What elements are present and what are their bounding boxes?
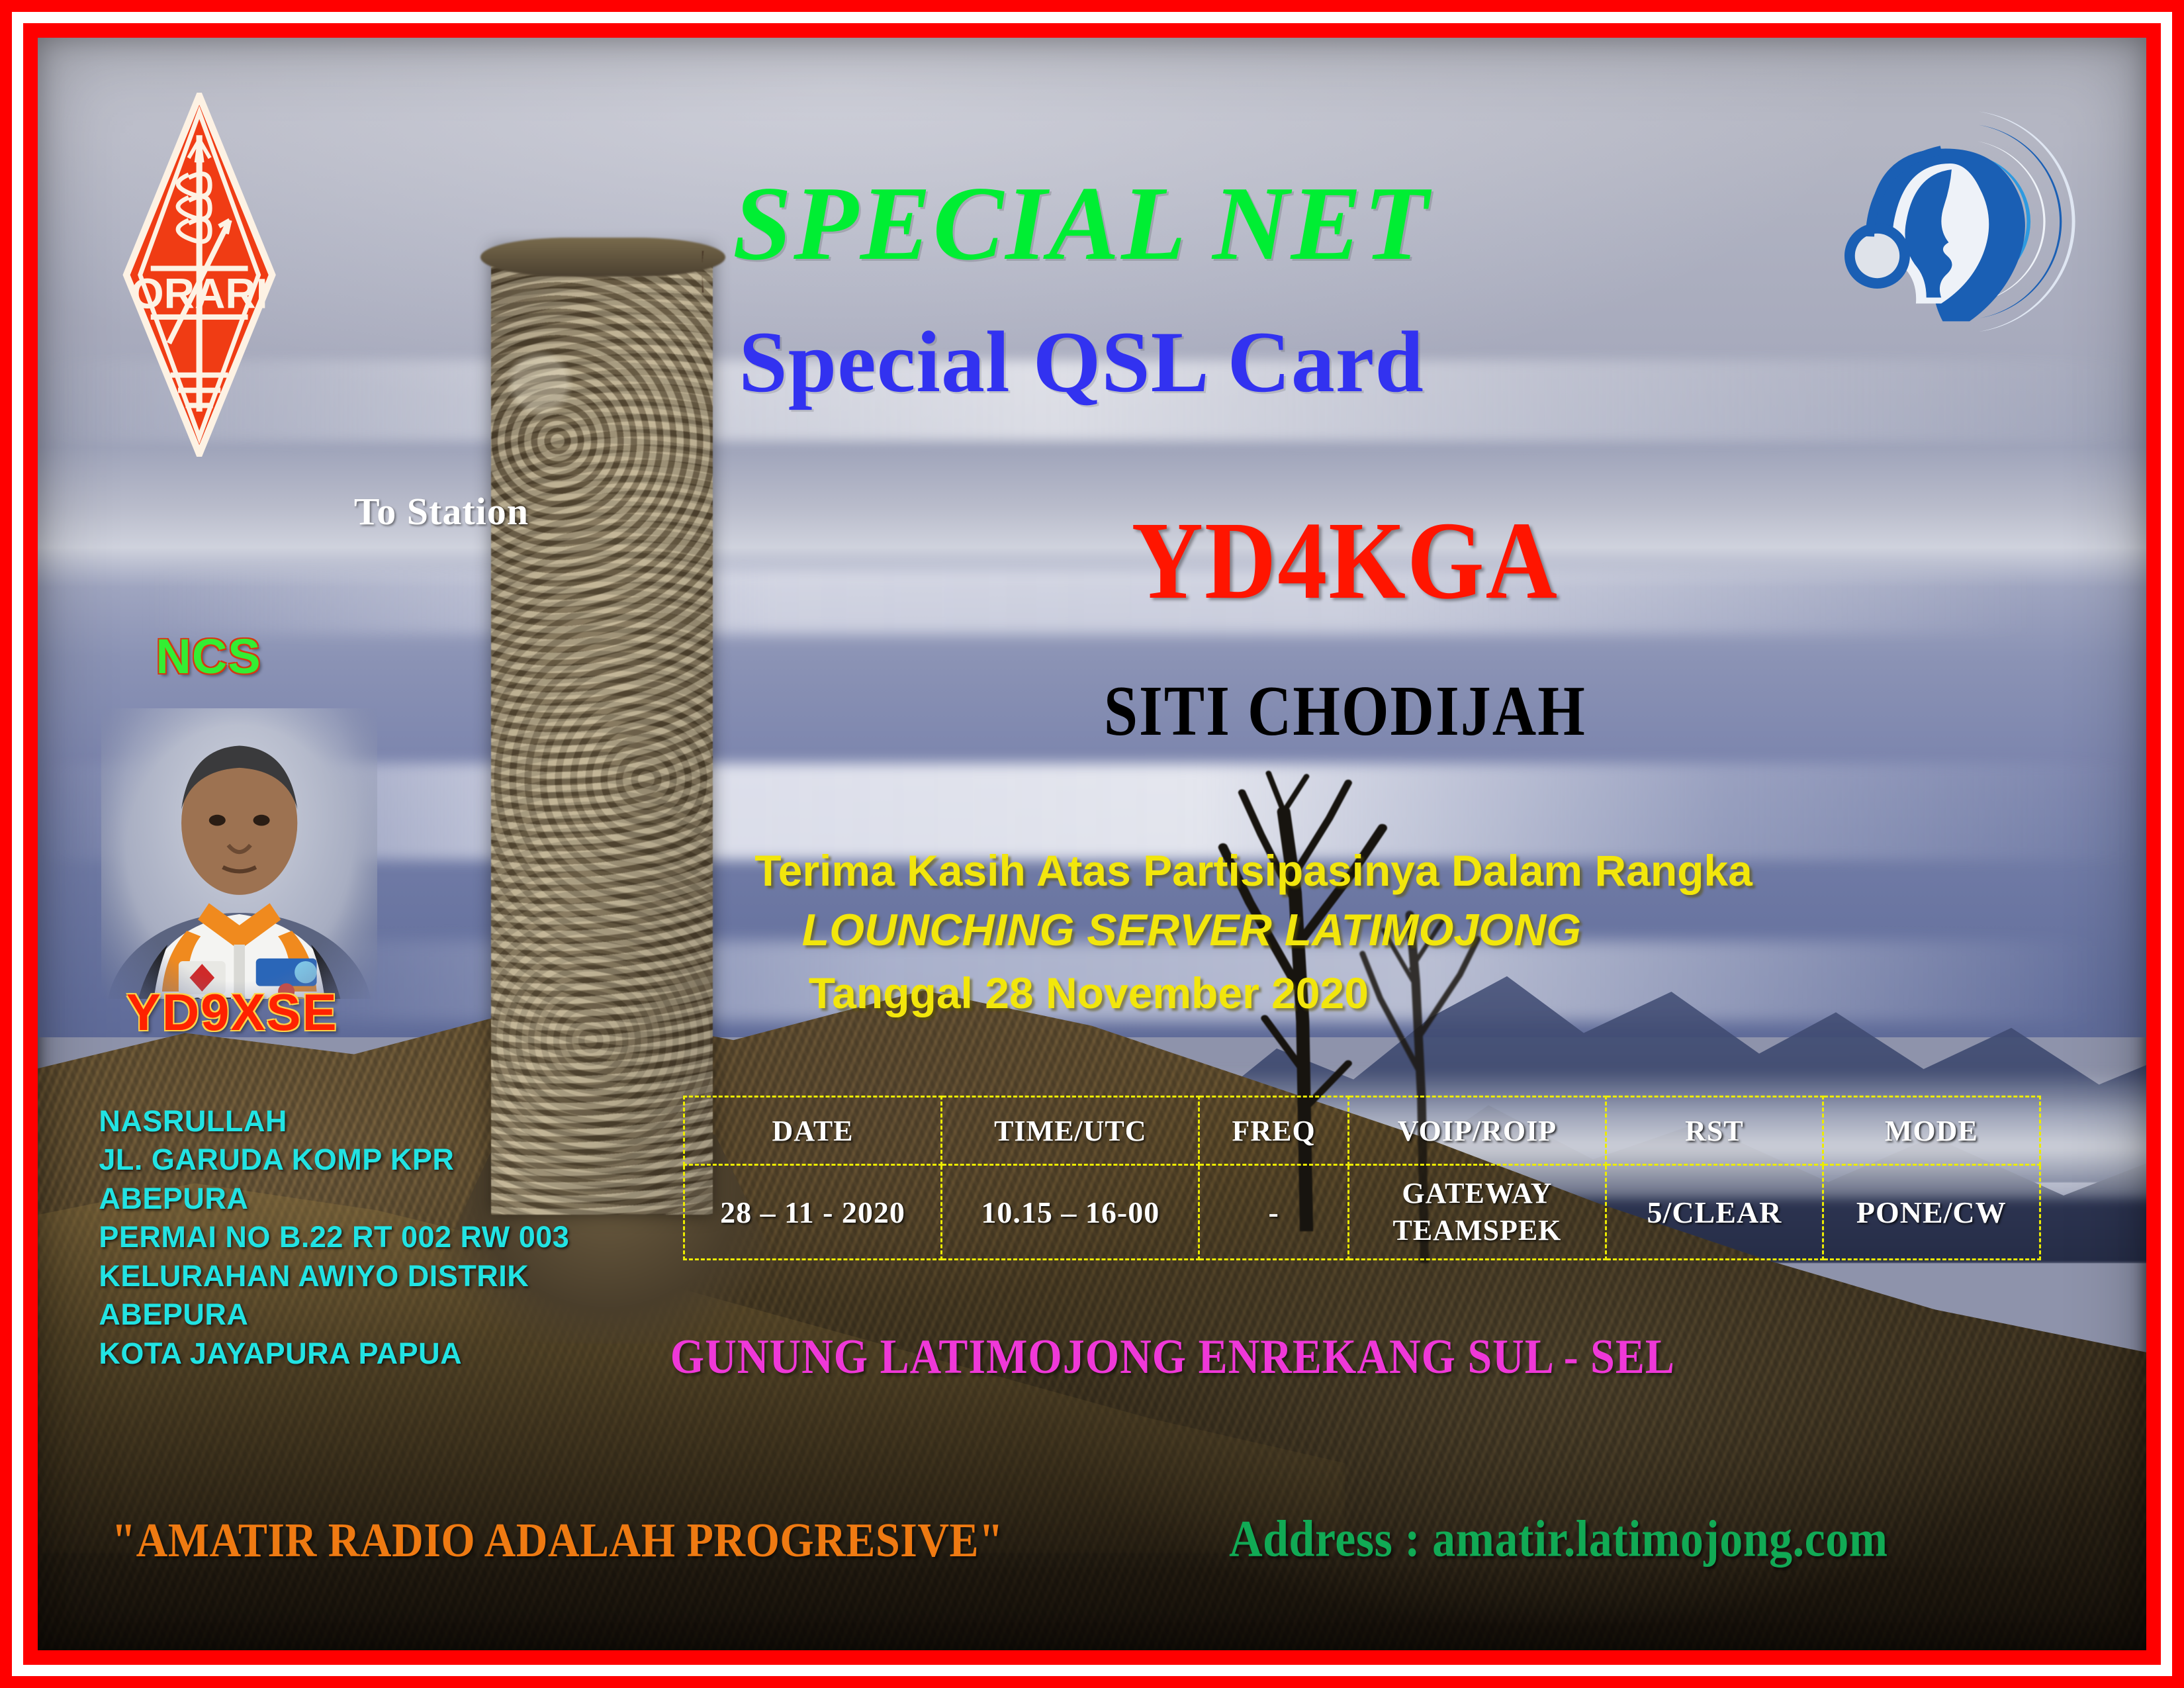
recipient-callsign: YD4KGA [881,505,1809,616]
card-photo-background: ORARI [38,38,2146,1650]
address-line: JL. GARUDA KOMP KPR [99,1141,774,1180]
ncs-callsign: YD9XSE [126,982,338,1043]
table-row: 28 – 11 - 2020 10.15 – 16-00 - GATEWAY T… [684,1165,2040,1260]
cell-voip: GATEWAY TEAMSPEK [1348,1165,1606,1260]
frame-white-ring: ORARI [12,12,2172,1676]
orari-logo: ORARI [101,93,297,457]
column-header-date: DATE [684,1097,941,1165]
qso-log-table: DATE TIME/UTC FREQ VOIP/ROIP RST MODE 28… [683,1096,2041,1260]
motto-text: "AMATIR RADIO ADALAH PROGRESIVE" [112,1513,1004,1569]
address-line: ABEPURA [99,1180,774,1219]
cell-rst: 5/CLEAR [1606,1165,1823,1260]
column-header-mode: MODE [1823,1097,2040,1165]
thanks-line-3: Tanggal 28 November 2020 [809,962,2104,1025]
cell-freq: - [1199,1165,1348,1260]
thanks-line-2: LOUNCHING SERVER LATIMOJONG [802,898,2105,963]
column-header-time: TIME/UTC [942,1097,1199,1165]
cell-voip-line-1: GATEWAY [1352,1175,1602,1212]
address-line: KELURAHAN AWIYO DISTRIK [99,1257,774,1296]
orari-logo-text: ORARI [130,270,267,318]
column-header-voip: VOIP/ROIP [1348,1097,1606,1165]
page-subtitle: Special QSL Card [470,318,1693,406]
card-content-layer: ORARI [38,38,2146,1650]
cell-voip-line-2: TEAMSPEK [1352,1212,1602,1249]
page-title: SPECIAL NET [470,170,1693,276]
location-caption: GUNUNG LATIMOJONG ENREKANG SUL - SEL [670,1329,1675,1385]
to-station-label: To Station [354,489,529,534]
column-header-freq: FREQ [1199,1097,1348,1165]
qsl-card-frame: ORARI [0,0,2184,1688]
ncs-operator-avatar: YD9XSE [101,708,377,998]
frame-red-inner-ring: ORARI [23,23,2161,1665]
column-header-rst: RST [1606,1097,1823,1165]
thanks-message: Terima Kasih Atas Partisipasinya Dalam R… [754,844,2104,1025]
ncs-label: NCS [156,628,261,684]
cell-date: 28 – 11 - 2020 [684,1165,941,1260]
thanks-line-1: Terima Kasih Atas Partisipasinya Dalam R… [754,844,2104,898]
cell-mode: PONE/CW [1823,1165,2040,1260]
address-line: NASRULLAH [99,1102,774,1141]
cell-time: 10.15 – 16-00 [942,1165,1199,1260]
table-header-row: DATE TIME/UTC FREQ VOIP/ROIP RST MODE [684,1097,2040,1165]
address-line: PERMAI NO B.22 RT 002 RW 003 [99,1218,774,1257]
recipient-operator-name: SITI CHODIJAH [881,675,1809,747]
headphone-head-waves-logo [1839,89,2091,354]
website-address: Address : amatir.latimojong.com [1229,1510,1888,1570]
address-line: ABEPURA [99,1295,774,1335]
